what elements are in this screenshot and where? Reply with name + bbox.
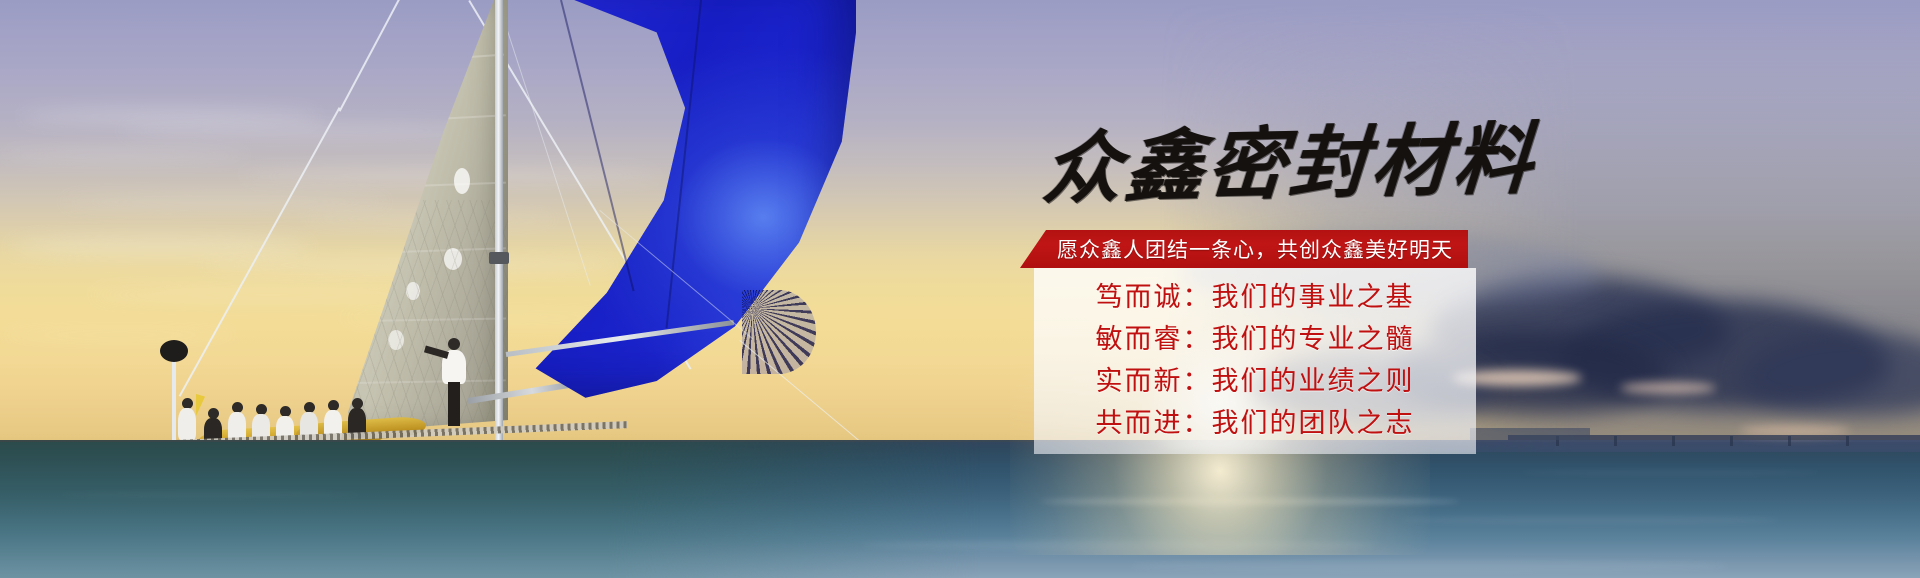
crew-head-standing: [448, 338, 460, 350]
forestay-line-upper: [339, 0, 448, 112]
sea-wave: [1400, 516, 1780, 524]
slogan-list: 笃而诚：我们的事业之基 敏而睿：我们的专业之髓 实而新：我们的业绩之则 共而进：…: [1034, 276, 1476, 444]
bridge-pylon: [1730, 436, 1733, 446]
slogan-panel: 笃而诚：我们的事业之基 敏而睿：我们的专业之髓 实而新：我们的业绩之则 共而进：…: [1034, 268, 1476, 454]
mast-fitting: [489, 252, 509, 264]
sea-wave: [1520, 470, 1820, 475]
sail-seam: [396, 114, 506, 122]
tagline-text: 愿众鑫人团结一条心，共创众鑫美好明天: [1035, 234, 1453, 264]
spinnaker-seam: [560, 0, 635, 291]
mast: [495, 0, 503, 440]
banner-text-block: 众鑫密封材料 愿众鑫人团结一条心，共创众鑫美好明天 笃而诚：我们的事业之基 敏而…: [1020, 118, 1490, 458]
sail-highlight: [454, 168, 470, 194]
sail-seam: [412, 54, 504, 62]
bow-post: [172, 352, 176, 448]
crew-legs-standing: [448, 382, 460, 426]
shroud-line: [497, 0, 591, 286]
sea-wave: [60, 492, 360, 498]
deck-flag: [196, 394, 205, 416]
bridge-pylon: [1788, 436, 1791, 446]
brand-title: 众鑫密封材料: [1040, 115, 1497, 216]
hero-banner: 众鑫密封材料 愿众鑫人团结一条心，共创众鑫美好明天 笃而诚：我们的事业之基 敏而…: [0, 0, 1920, 578]
slogan-line: 实而新：我们的业绩之则: [1034, 360, 1476, 402]
tagline-ribbon: 愿众鑫人团结一条心，共创众鑫美好明天: [1020, 230, 1468, 268]
sea-wave: [1130, 560, 1730, 572]
bridge-pylon: [1614, 436, 1617, 446]
radome: [160, 340, 188, 362]
sail-seam: [382, 182, 506, 188]
forestay-line: [179, 107, 340, 396]
bridge-pylon: [1846, 436, 1849, 446]
slogan-line: 笃而诚：我们的事业之基: [1034, 276, 1476, 318]
spinnaker-clew: [742, 290, 816, 374]
sea-left-shadow: [0, 440, 980, 578]
storm-cloud-lit-edge: [1620, 382, 1716, 394]
bridge-pylon: [1672, 436, 1675, 446]
crew-body: [178, 408, 196, 440]
mainsail: [348, 0, 508, 432]
slogan-line: 敏而睿：我们的专业之髓: [1034, 318, 1476, 360]
slogan-line: 共而进：我们的团队之志: [1034, 402, 1476, 444]
